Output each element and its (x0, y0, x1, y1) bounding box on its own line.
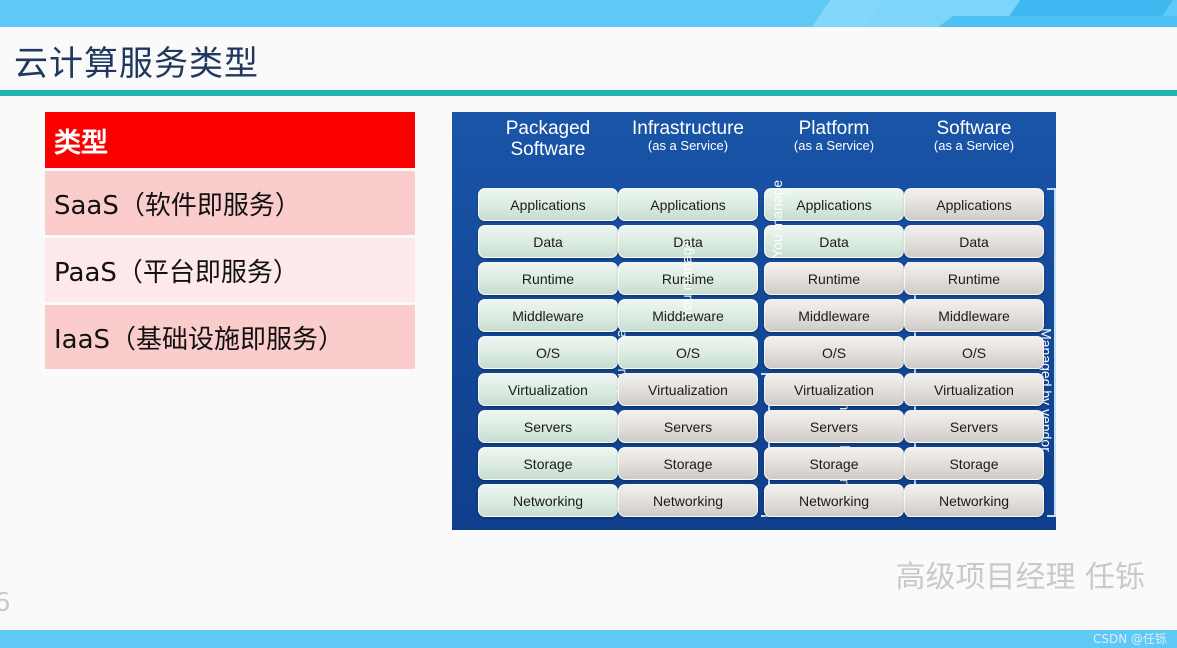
stack-tile: Networking (478, 484, 618, 517)
stack-tile: Storage (478, 447, 618, 480)
top-banner (0, 0, 1177, 27)
table-header-cell: 类型 (45, 112, 415, 171)
stack-tile-list: ApplicationsDataRuntimeMiddlewareO/SVirt… (478, 188, 618, 521)
stack-tile: O/S (764, 336, 904, 369)
stack-tile: Storage (764, 447, 904, 480)
stack-tile: Applications (478, 188, 618, 221)
vendor-bracket (1047, 188, 1056, 517)
stack-tile-list: ApplicationsDataRuntimeMiddlewareO/SVirt… (764, 188, 904, 521)
stack-tile: Networking (618, 484, 758, 517)
page-number: 6 (0, 588, 11, 618)
stack-tile: Virtualization (478, 373, 618, 406)
stack-tile: Data (478, 225, 618, 258)
title-divider (0, 90, 1177, 96)
stack-column-title: Infrastructure (618, 118, 758, 139)
stack-column: Software(as a Service)ApplicationsDataRu… (904, 112, 1044, 530)
you-manage-label: You manage (769, 188, 785, 258)
stack-tile: Applications (904, 188, 1044, 221)
stack-column-heading: Software(as a Service) (904, 118, 1044, 154)
banner-shape-mid (927, 16, 1177, 27)
you-manage-label: You manage (679, 188, 695, 369)
stack-tile: Servers (618, 410, 758, 443)
stack-tile: Storage (904, 447, 1044, 480)
stack-tile: Networking (764, 484, 904, 517)
stack-column-title: Platform (764, 118, 904, 139)
stack-column-subtitle: (as a Service) (904, 139, 1044, 154)
stack-tile: Servers (478, 410, 618, 443)
stack-column-heading: PackagedSoftware (478, 118, 618, 161)
stack-tile: Middleware (904, 299, 1044, 332)
stack-tile: O/S (904, 336, 1044, 369)
stack-tile: Data (764, 225, 904, 258)
stack-column: PackagedSoftwareApplicationsDataRuntimeM… (478, 112, 618, 530)
stack-tile: O/S (478, 336, 618, 369)
stack-tile: Data (904, 225, 1044, 258)
stack-column-heading: Platform(as a Service) (764, 118, 904, 154)
stack-tile: Runtime (764, 262, 904, 295)
stack-tile: Storage (618, 447, 758, 480)
stack-tile: Virtualization (618, 373, 758, 406)
stack-tile: Runtime (478, 262, 618, 295)
stack-tile: Servers (764, 410, 904, 443)
stack-column-title: Packaged (478, 118, 618, 139)
stack-tile: Virtualization (764, 373, 904, 406)
stack-column-subtitle: (as a Service) (618, 139, 758, 154)
stack-column-title-line2: Software (478, 139, 618, 160)
author-credit: 高级项目经理 任铄 (895, 552, 1145, 596)
stack-tile-list: ApplicationsDataRuntimeMiddlewareO/SVirt… (904, 188, 1044, 521)
stack-tile: Networking (904, 484, 1044, 517)
table-row: PaaS（平台即服务） (45, 238, 415, 305)
stack-column-title: Software (904, 118, 1044, 139)
stack-tile: Middleware (478, 299, 618, 332)
stack-column-subtitle: (as a Service) (764, 139, 904, 154)
stack-column-heading: Infrastructure(as a Service) (618, 118, 758, 154)
stack-tile: Middleware (764, 299, 904, 332)
stack-tile: Virtualization (904, 373, 1044, 406)
stack-tile: Runtime (904, 262, 1044, 295)
stack-tile: Applications (764, 188, 904, 221)
stack-tile: Servers (904, 410, 1044, 443)
stack-column: Platform(as a Service)ApplicationsDataRu… (764, 112, 904, 530)
table-row: IaaS（基础设施即服务） (45, 305, 415, 372)
page-title: 云计算服务类型 (14, 36, 259, 85)
csdn-watermark: CSDN @任铄 (1093, 630, 1167, 647)
service-type-table: 类型 SaaS（软件即服务） PaaS（平台即服务） IaaS（基础设施即服务） (45, 112, 415, 372)
table-row: SaaS（软件即服务） (45, 171, 415, 238)
bottom-bar (0, 630, 1177, 648)
cloud-stack-diagram: PackagedSoftwareApplicationsDataRuntimeM… (452, 112, 1056, 530)
